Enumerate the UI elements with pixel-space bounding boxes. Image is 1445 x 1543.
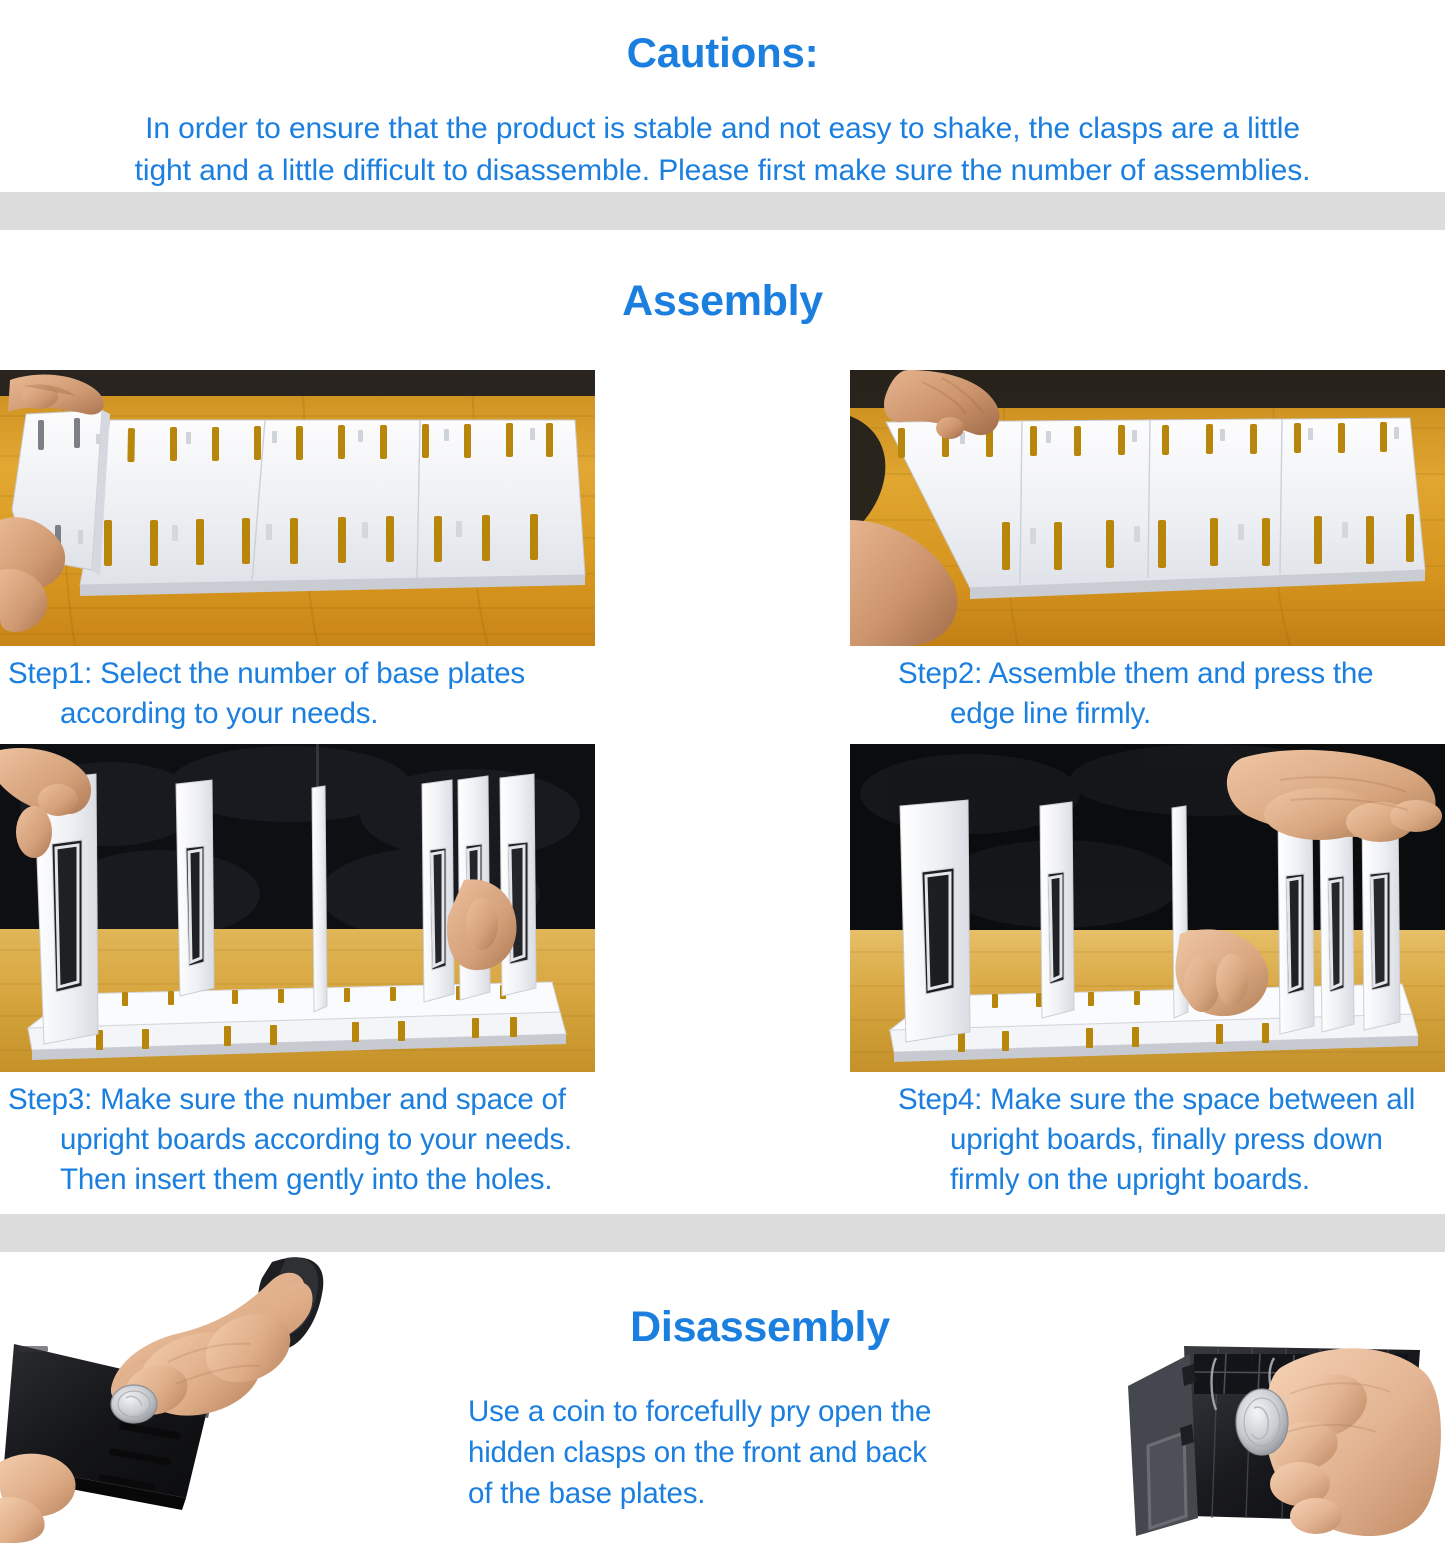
assembly-title: Assembly xyxy=(0,266,1445,334)
cautions-line-2: tight and a little difficult to disassem… xyxy=(14,150,1431,192)
step1-photo-cell xyxy=(0,370,595,646)
assembly-row-2-gutter xyxy=(595,744,850,1072)
disassembly-section: Disassembly Use a coin to forcefully pry… xyxy=(0,1252,1445,1543)
instruction-infographic: Cautions: In order to ensure that the pr… xyxy=(0,0,1445,1431)
step3-photo-cell xyxy=(0,744,595,1072)
step4-caption-line-2: upright boards, finally press down xyxy=(898,1120,1445,1160)
step1-caption-line-1: Step1: Select the number of base plates xyxy=(8,654,595,694)
step4-photo-cell xyxy=(850,744,1445,1072)
step3-photo xyxy=(0,744,595,1072)
disassembly-body: Use a coin to forcefully pry open the hi… xyxy=(460,1391,1060,1514)
step1-caption-line-2: according to your needs. xyxy=(8,694,595,734)
step4-photo xyxy=(850,744,1445,1072)
disassembly-photo-left xyxy=(0,1252,400,1543)
step4-caption: Step4: Make sure the space between all u… xyxy=(850,1072,1445,1200)
step3-caption: Step3: Make sure the number and space of… xyxy=(0,1072,595,1200)
step2-caption: Step2: Assemble them and press the edge … xyxy=(850,646,1445,734)
disassembly-line-3: of the base plates. xyxy=(468,1473,1060,1514)
cautions-line-1: In order to ensure that the product is s… xyxy=(14,108,1431,150)
step2-photo xyxy=(850,370,1445,646)
step4-caption-line-1: Step4: Make sure the space between all xyxy=(898,1080,1445,1120)
divider-band-top xyxy=(0,192,1445,230)
cautions-body: In order to ensure that the product is s… xyxy=(0,104,1445,192)
cautions-section: Cautions: In order to ensure that the pr… xyxy=(0,0,1445,192)
step1-caption: Step1: Select the number of base plates … xyxy=(0,646,595,734)
step2-photo-cell xyxy=(850,370,1445,646)
disassembly-text-block: Disassembly Use a coin to forcefully pry… xyxy=(460,1264,1060,1514)
assembly-row-2-photos xyxy=(0,744,1445,1072)
disassembly-photo-right xyxy=(1090,1310,1445,1543)
assembly-row-2-captions: Step3: Make sure the number and space of… xyxy=(0,1072,1445,1214)
disassembly-line-1: Use a coin to forcefully pry open the xyxy=(468,1391,1060,1432)
disassembly-line-2: hidden clasps on the front and back xyxy=(468,1432,1060,1473)
step3-caption-line-1: Step3: Make sure the number and space of xyxy=(8,1080,595,1120)
step3-caption-line-2: upright boards according to your needs. xyxy=(8,1120,595,1160)
divider-band-bottom xyxy=(0,1214,1445,1252)
step4-caption-line-3: firmly on the upright boards. xyxy=(898,1160,1445,1200)
assembly-row-1-photos xyxy=(0,370,1445,646)
assembly-section: Assembly xyxy=(0,266,1445,1214)
step2-caption-line-1: Step2: Assemble them and press the xyxy=(898,654,1445,694)
cautions-title: Cautions: xyxy=(0,30,1445,76)
step1-photo xyxy=(0,370,595,646)
step3-caption-line-3: Then insert them gently into the holes. xyxy=(8,1160,595,1200)
step2-caption-line-2: edge line firmly. xyxy=(898,694,1445,734)
assembly-row-1-gutter xyxy=(595,370,850,646)
assembly-row-1-captions: Step1: Select the number of base plates … xyxy=(0,646,1445,744)
disassembly-title: Disassembly xyxy=(460,1299,1060,1355)
